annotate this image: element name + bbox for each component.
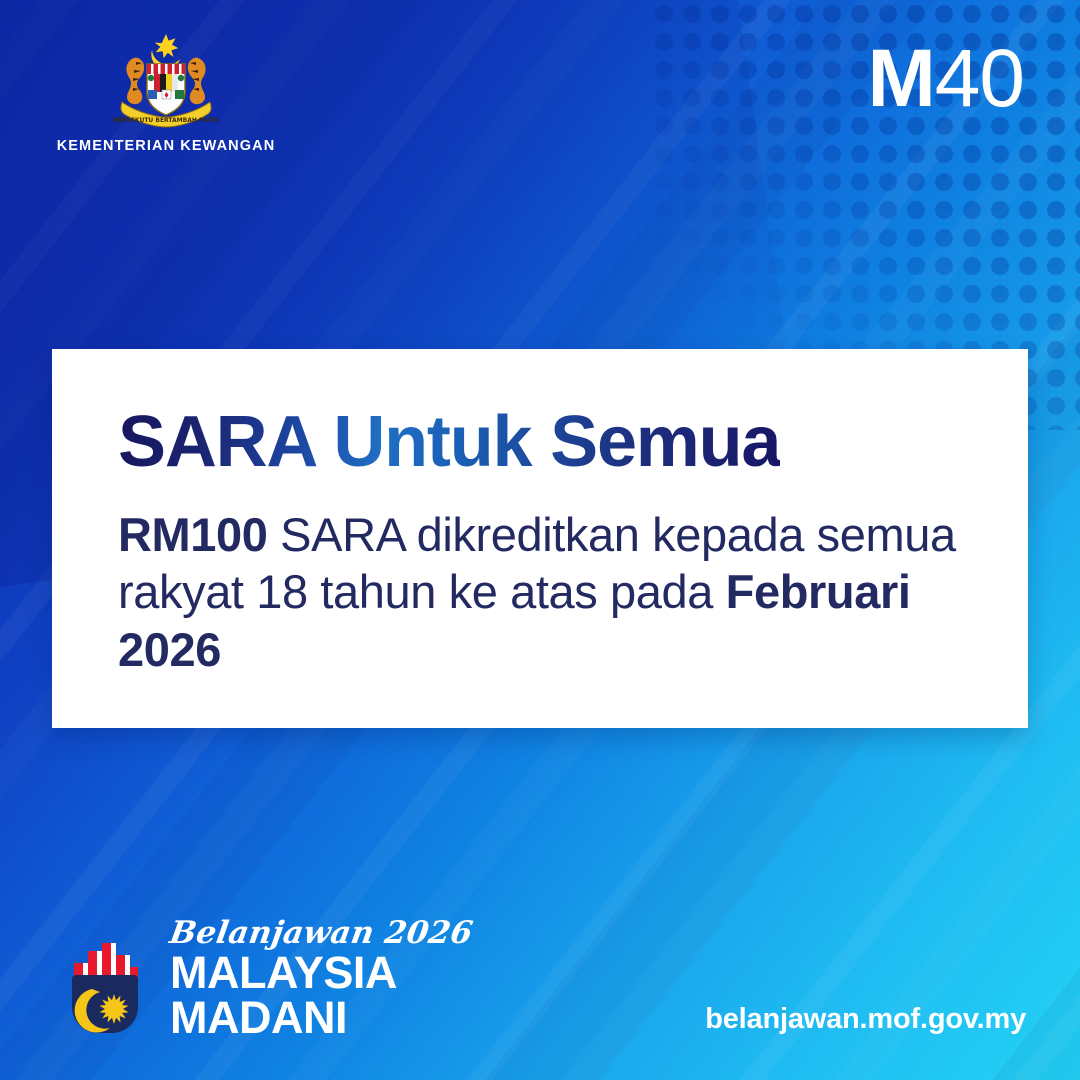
madani-wordmark: Belanjawan 2026 MALAYSIA MADANI [170,918,473,1044]
m40-number: 40 [935,33,1024,124]
ministry-branding: BERSEKUTU BERTAMBAH MUTU KEMENTERIAN KEW… [36,28,296,154]
website-url[interactable]: belanjawan.mof.gov.my [705,1003,1026,1036]
malaysia-label: MALAYSIA [170,951,473,995]
amount-value: RM100 [118,508,268,561]
message-card: SARA Untuk Semua RM100 SARA dikreditkan … [52,349,1028,728]
card-body-text: RM100 SARA dikreditkan kepada semua raky… [118,506,970,678]
card-headline: SARA Untuk Semua [118,405,780,480]
madani-branding: Belanjawan 2026 MALAYSIA MADANI [52,918,473,1044]
belanjawan-script-label: Belanjawan 2026 [168,918,475,949]
m40-prefix: M [867,33,934,124]
malaysia-madani-logo-icon [52,933,156,1044]
poster-canvas: BERSEKUTU BERTAMBAH MUTU KEMENTERIAN KEW… [0,0,1080,1080]
malaysia-coat-of-arms-icon: BERSEKUTU BERTAMBAH MUTU [36,28,296,132]
svg-text:BERSEKUTU BERTAMBAH MUTU: BERSEKUTU BERTAMBAH MUTU [113,117,219,124]
madani-label: MADANI [170,995,473,1040]
m40-badge: M40 [867,38,1024,120]
ministry-name-label: KEMENTERIAN KEWANGAN [36,138,296,154]
